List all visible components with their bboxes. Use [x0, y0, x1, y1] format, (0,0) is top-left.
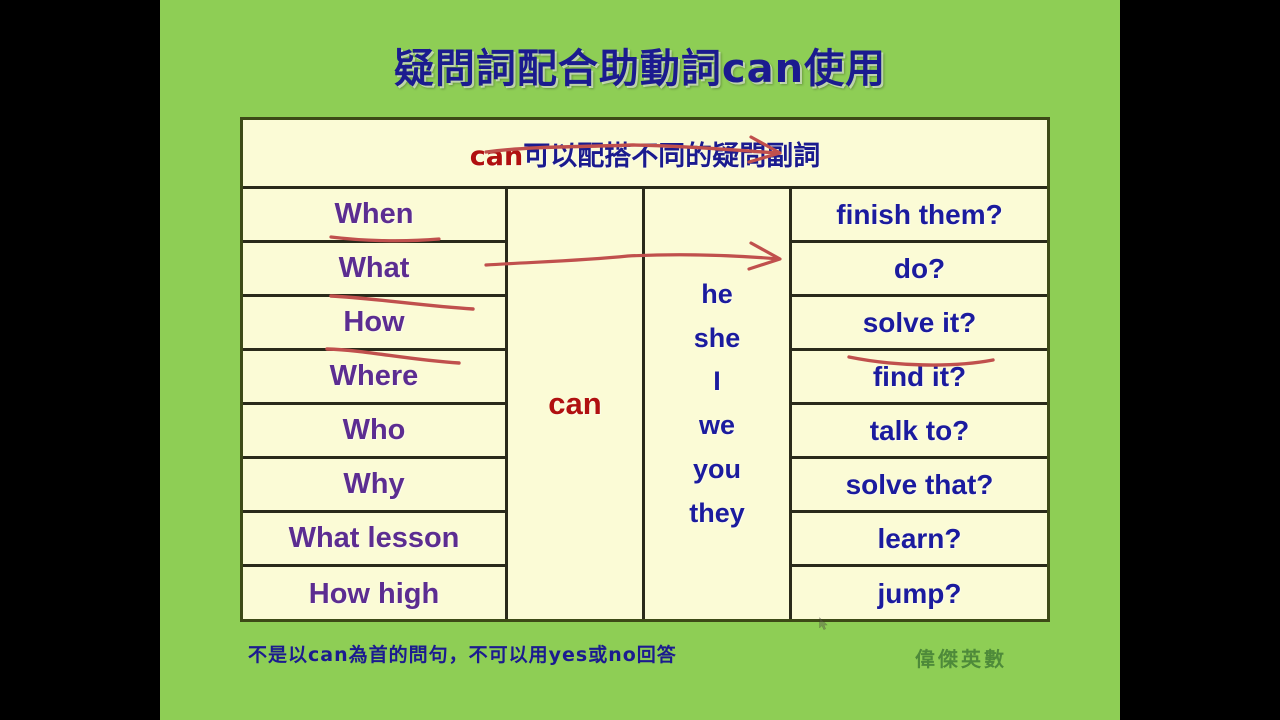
- question-word: Where: [330, 360, 419, 393]
- table-row: do?: [792, 243, 1047, 297]
- question-word-column: When What How Where Who Why: [243, 189, 505, 619]
- pronoun: he: [701, 273, 733, 317]
- table-row: talk to?: [792, 405, 1047, 459]
- table-row: jump?: [792, 567, 1047, 621]
- question-word: What lesson: [289, 522, 460, 555]
- predicate: jump?: [878, 578, 962, 610]
- question-word: Why: [343, 468, 404, 501]
- table-row: solve it?: [792, 297, 1047, 351]
- header-rest-text: 可以配搭不同的疑問副詞: [523, 141, 820, 172]
- table-row: How: [243, 297, 505, 351]
- watermark-text: 偉傑英數: [915, 643, 1007, 672]
- modal-cell: can: [508, 189, 642, 619]
- question-word: What: [339, 252, 410, 285]
- table-row: What lesson: [243, 513, 505, 567]
- predicate: learn?: [877, 523, 961, 555]
- mouse-cursor-icon: [819, 617, 829, 631]
- pronoun: they: [689, 491, 745, 535]
- predicate: solve it?: [863, 307, 977, 339]
- question-word: Who: [343, 414, 406, 447]
- pronoun-stack: he she I we you they: [645, 273, 789, 535]
- table-row: What: [243, 243, 505, 297]
- table-header-text: can可以配搭不同的疑問副詞: [470, 134, 820, 173]
- modal-word: can: [548, 386, 601, 422]
- table-body: When What How Where Who Why: [243, 189, 1047, 619]
- predicate: solve that?: [846, 469, 994, 501]
- slide-canvas: 疑問詞配合助動詞can使用 can可以配搭不同的疑問副詞 When What: [160, 0, 1120, 720]
- pronoun: she: [694, 317, 741, 361]
- footnote-text: 不是以can為首的問句，不可以用yes或no回答: [248, 640, 677, 667]
- grammar-table: can可以配搭不同的疑問副詞 When What How: [240, 117, 1050, 622]
- table-row: solve that?: [792, 459, 1047, 513]
- pronoun: we: [699, 404, 735, 448]
- slide-screenshot: 疑問詞配合助動詞can使用 can可以配搭不同的疑問副詞 When What: [0, 0, 1280, 720]
- table-header-row: can可以配搭不同的疑問副詞: [243, 120, 1047, 189]
- table-row: Where: [243, 351, 505, 405]
- pronoun: you: [693, 448, 741, 492]
- predicate: do?: [894, 253, 945, 285]
- header-can-word: can: [470, 141, 523, 172]
- question-word: How: [343, 306, 404, 339]
- table-row: Why: [243, 459, 505, 513]
- table-row: find it?: [792, 351, 1047, 405]
- table-row: When: [243, 189, 505, 243]
- table-row: learn?: [792, 513, 1047, 567]
- predicate: talk to?: [870, 415, 970, 447]
- page-title: 疑問詞配合助動詞can使用: [160, 36, 1120, 94]
- pronoun: I: [713, 360, 721, 404]
- table-row: Who: [243, 405, 505, 459]
- modal-column: can: [508, 189, 642, 619]
- table-row: finish them?: [792, 189, 1047, 243]
- table-row: How high: [243, 567, 505, 621]
- question-word: When: [335, 198, 414, 231]
- question-word: How high: [309, 578, 439, 611]
- predicate: finish them?: [836, 199, 1002, 231]
- predicate-column: finish them? do? solve it? find it? talk…: [792, 189, 1047, 619]
- predicate: find it?: [873, 361, 966, 393]
- pronoun-column: he she I we you they: [645, 189, 789, 619]
